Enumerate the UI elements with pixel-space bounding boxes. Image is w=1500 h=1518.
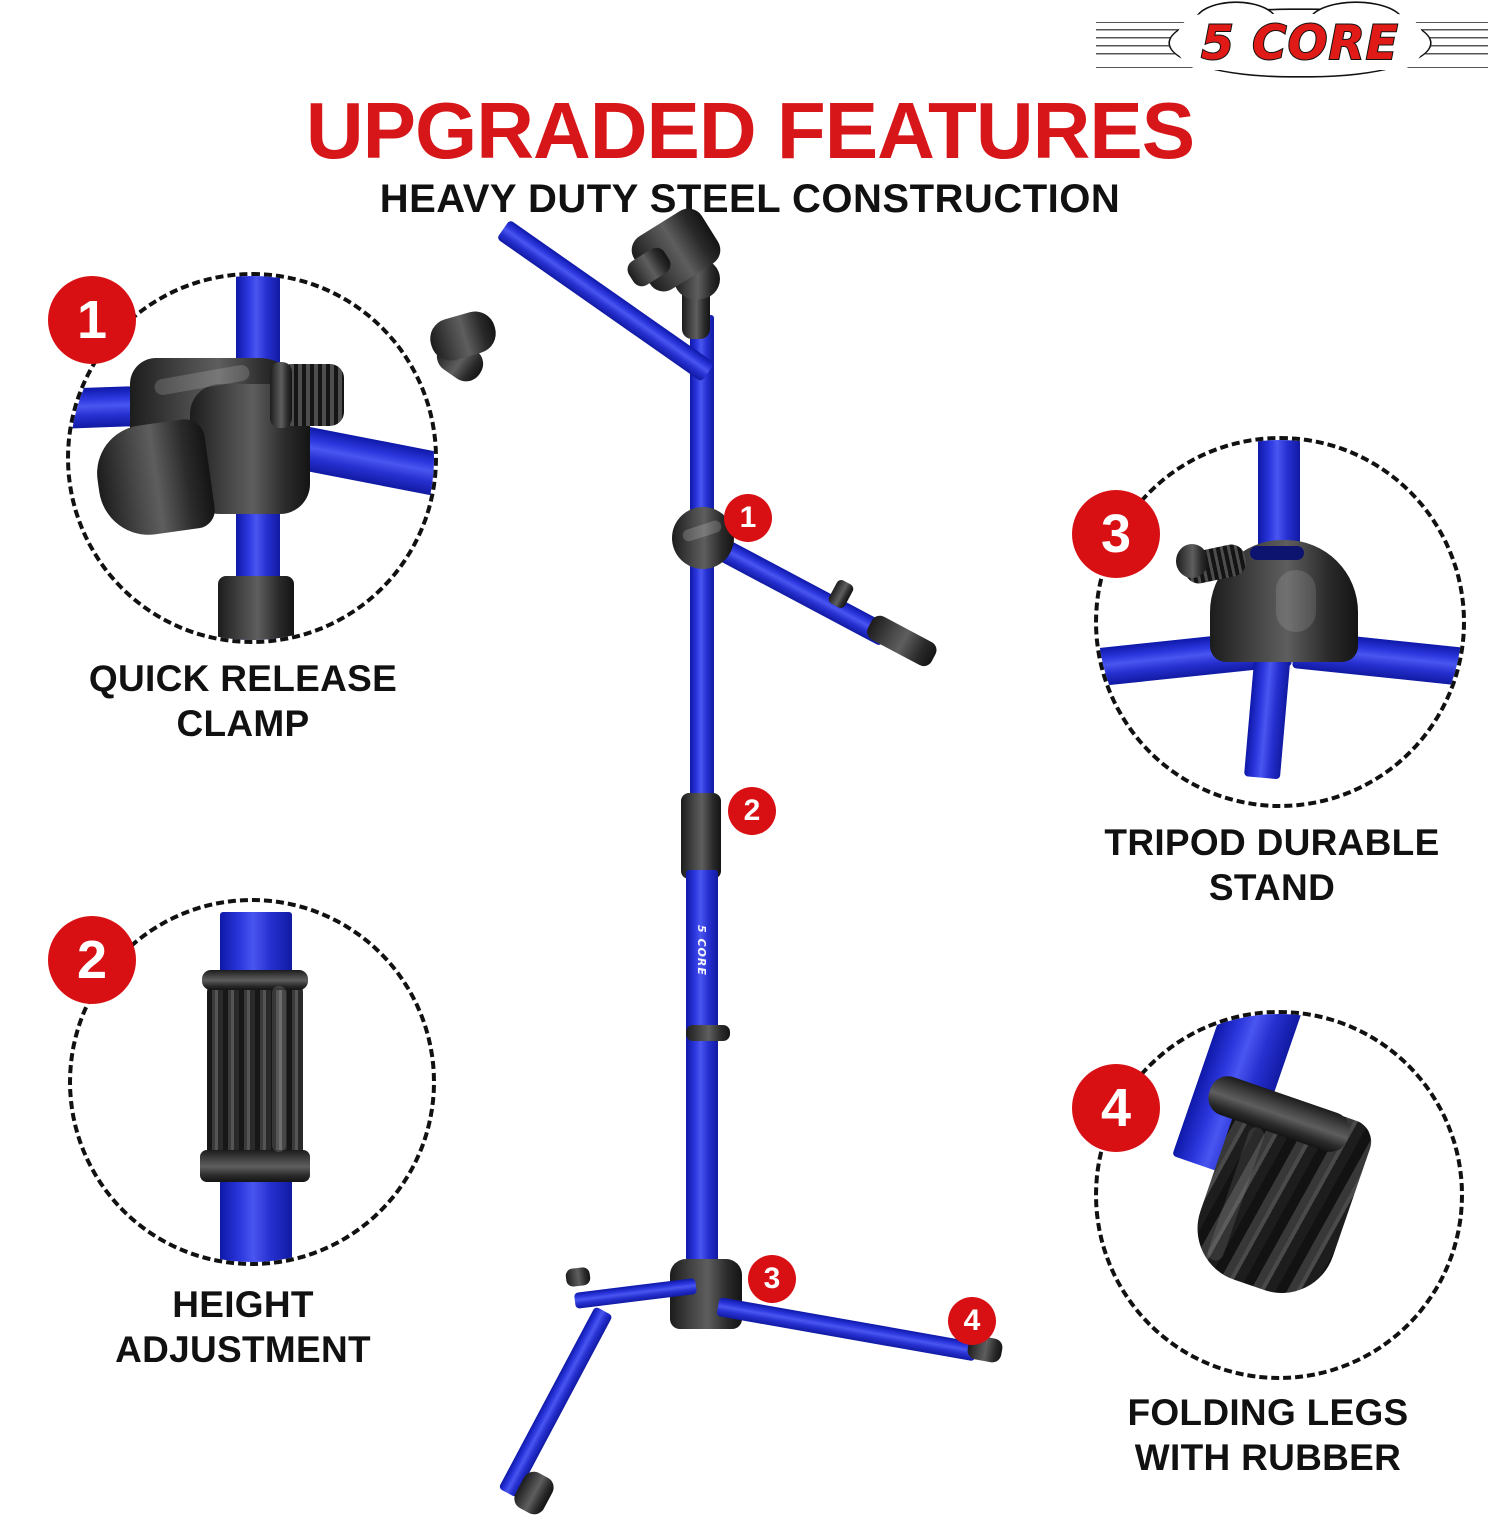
stand-cable-clip [686,1025,730,1041]
callout-3-caption: TRIPOD DURABLE STAND [1062,820,1482,910]
callout-4-circle [1094,1010,1464,1380]
clamp-lever-knob [91,417,217,542]
height-collar-bottom-cap [200,1150,310,1182]
tripod-hub-highlight [1276,570,1316,632]
height-collar-highlight [272,986,286,1152]
pole-logo-text: 5 CORE [695,925,708,976]
callout-4-caption-line1: FOLDING LEGS [1058,1390,1478,1435]
product-marker-3: 3 [748,1255,796,1303]
tripod-hub-socket [1250,546,1304,560]
five-core-logo: 5 CORE [1096,8,1488,78]
height-collar-top-cap [202,970,308,990]
product-marker-1: 1 [724,494,772,542]
callout-3-badge: 3 [1072,490,1160,578]
product-marker-2: 2 [728,787,776,835]
callout-folding-legs: 4 FOLDING LEGS WITH RUBBER [1072,1010,1482,1480]
tripod-foot-rear-left [565,1267,591,1288]
callout-4-badge: 4 [1072,1064,1160,1152]
boom-counterweight-tip [864,613,940,670]
logo-text: 5 CORE [1170,8,1430,78]
tripod-knob-head [1176,544,1208,578]
product-marker-4: 4 [948,1297,996,1345]
infographic-canvas: 5 CORE UPGRADED FEATURES HEAVY DUTY STEE… [0,0,1500,1500]
page-title: UPGRADED FEATURES [0,88,1500,174]
clamp-lower-sleeve [218,576,294,644]
callout-1-badge: 1 [48,276,136,364]
callout-4-caption-line2: WITH RUBBER [1058,1435,1478,1480]
tripod-leg-right [716,1297,977,1361]
callout-3-caption-line1: TRIPOD DURABLE [1062,820,1482,865]
callout-3-caption-line2: STAND [1062,865,1482,910]
stand-height-collar [681,793,721,879]
callout-3-circle [1094,436,1466,808]
product-microphone-stand: 5 CORE 1 2 3 4 [380,215,1120,1505]
clamp-thumbscrew-collar [270,362,292,428]
callout-4-caption: FOLDING LEGS WITH RUBBER [1058,1390,1478,1480]
height-adjustment-collar [207,980,303,1160]
callout-tripod-stand: 3 TRIPOD DURABLE STAND [1072,430,1472,900]
callout-2-badge: 2 [48,916,136,1004]
tripod-leg-front-left [498,1306,612,1497]
